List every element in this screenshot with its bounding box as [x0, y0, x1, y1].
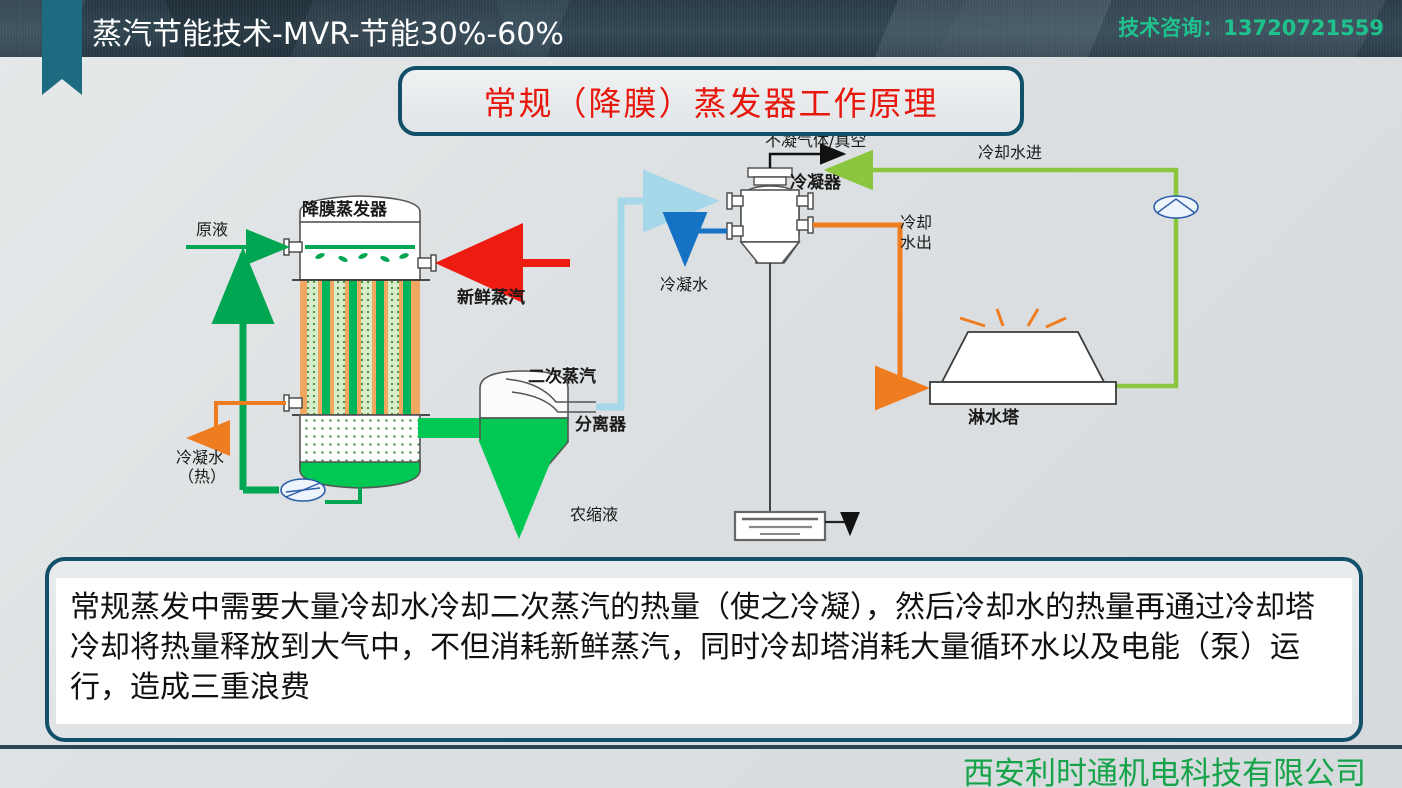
- header-contact: 技术咨询：13720721559: [1118, 12, 1384, 42]
- slide-title-text: 常规（降膜）蒸发器工作原理: [484, 77, 939, 125]
- description-inner: 常规蒸发中需要大量冷却水冷却二次蒸汽的热量（使之冷凝），然后冷却水的热量再通过冷…: [56, 578, 1352, 724]
- label-concentrate: 农缩液: [570, 505, 618, 524]
- label-secondary-steam: 二次蒸汽: [528, 366, 596, 387]
- condensate-out-line: [685, 231, 727, 262]
- label-condenser: 冷凝器: [790, 172, 842, 193]
- label-feed: 原液: [196, 220, 228, 239]
- process-flow-diagram: 降膜蒸发器 原液 新鲜蒸汽 冷凝水 （热）: [0, 130, 1402, 560]
- cooling-tower: [930, 309, 1116, 404]
- footer-company-name: 西安利时通机电科技有限公司: [963, 748, 1366, 788]
- label-cooling-water-out-2: 水出: [900, 233, 932, 252]
- falling-film-evaporator: [284, 196, 436, 488]
- noncondensable-gas-line: [770, 154, 844, 168]
- description-box: 常规蒸发中需要大量冷却水冷却二次蒸汽的热量（使之冷凝），然后冷却水的热量再通过冷…: [45, 557, 1363, 742]
- label-fresh-steam: 新鲜蒸汽: [457, 287, 525, 308]
- label-separator: 分离器: [575, 414, 627, 435]
- ribbon-tab-icon: [42, 0, 82, 79]
- valve-icon: [507, 482, 531, 504]
- label-evaporator: 降膜蒸发器: [302, 199, 388, 220]
- label-cooling-tower: 淋水塔: [968, 407, 1020, 428]
- slide-title-box: 常规（降膜）蒸发器工作原理: [398, 66, 1024, 136]
- spray-lines-icon: [960, 309, 1066, 327]
- slide-canvas: 蒸汽节能技术-MVR-节能30%-60% 技术咨询：13720721559 常规…: [0, 0, 1402, 788]
- label-cooling-water-in: 冷却水进: [978, 143, 1042, 162]
- label-condensate: 冷凝水: [660, 275, 708, 294]
- hot-condensate-line: [190, 403, 286, 438]
- cooling-pump-icon: [1154, 196, 1198, 218]
- label-condensate-hot-2: （热）: [178, 467, 226, 486]
- seal-tank: [735, 512, 850, 540]
- label-condensate-hot-1: 冷凝水: [176, 448, 224, 467]
- description-text: 常规蒸发中需要大量冷却水冷却二次蒸汽的热量（使之冷凝），然后冷却水的热量再通过冷…: [70, 588, 1338, 708]
- label-cooling-water-out-1: 冷却: [900, 213, 932, 232]
- condenser-vessel: [727, 168, 813, 512]
- header-title: 蒸汽节能技术-MVR-节能30%-60%: [92, 9, 564, 53]
- circulation-pump-icon: [281, 479, 325, 501]
